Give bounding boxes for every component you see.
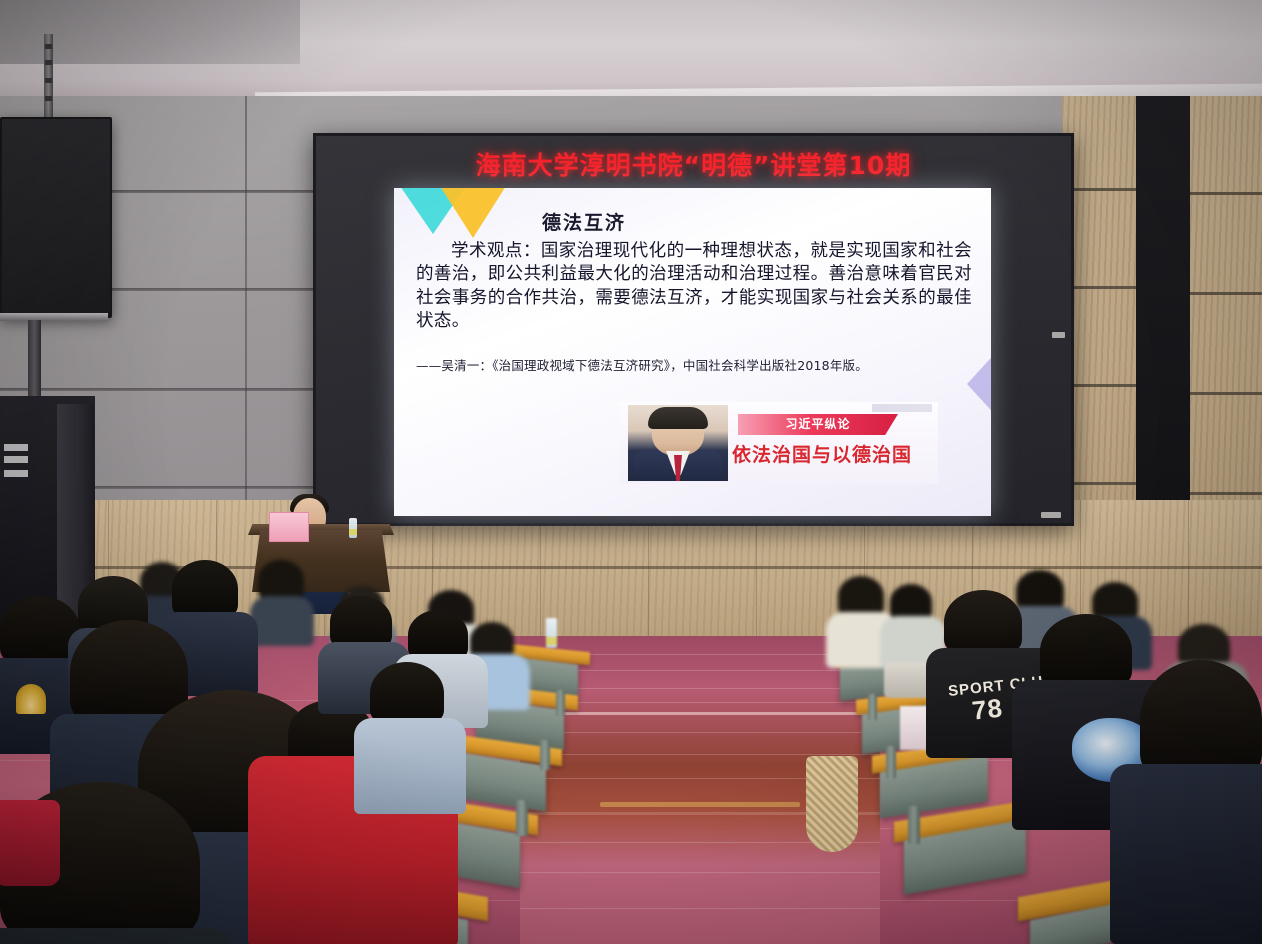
image-watermark	[872, 404, 932, 412]
rack-label	[4, 456, 28, 463]
seat-post	[868, 694, 877, 720]
slide-citation: ——吴清一：《治国理政视域下德法互济研究》，中国社会科学出版社2018年版。	[416, 358, 972, 374]
screen-control-button[interactable]	[1052, 332, 1065, 338]
slide-heading: 德法互济	[542, 208, 626, 235]
triangle-amber-icon	[440, 188, 506, 238]
embedded-image-card: 习近平纵论 依法治国与以德治国	[620, 402, 938, 484]
wall-mounted-tv[interactable]	[0, 117, 112, 318]
shirt-emblem	[16, 684, 46, 714]
tv-mount-bracket	[44, 34, 53, 126]
lecture-hall-photo: 海南大学淳明书院“明德”讲堂第10期 德法互济 学术观点：国家治理现代化的一种理…	[0, 0, 1262, 944]
triangle-purple-icon	[967, 338, 991, 430]
red-bag	[0, 800, 60, 886]
water-bottle	[546, 618, 557, 648]
rack-label	[4, 444, 28, 451]
wall-seam	[245, 96, 247, 516]
seat-post	[886, 746, 896, 778]
seat-post	[516, 800, 528, 836]
doorway-dark	[1136, 96, 1190, 536]
rack-label	[4, 470, 28, 477]
projection-screen[interactable]: 海南大学淳明书院“明德”讲堂第10期 德法互济 学术观点：国家治理现代化的一种理…	[313, 133, 1074, 526]
straw-tote-bag	[806, 756, 858, 852]
seat-post	[908, 806, 920, 844]
tv-base	[0, 313, 108, 321]
water-bottle	[349, 518, 357, 538]
lecture-banner-title: 海南大学淳明书院“明德”讲堂第10期	[316, 146, 1071, 182]
seat-post	[556, 690, 565, 716]
portrait-photo	[628, 405, 728, 481]
embedded-banner-label: 习近平纵论	[738, 414, 898, 435]
portrait-hair	[648, 407, 708, 429]
presentation-slide: 德法互济 学术观点：国家治理现代化的一种理想状态，就是实现国家和社会的善治，即公…	[394, 188, 991, 516]
slide-body-text: 学术观点：国家治理现代化的一种理想状态，就是实现国家和社会的善治，即公共利益最大…	[416, 240, 972, 333]
screen-indicator	[1041, 512, 1061, 518]
embedded-headline: 依法治国与以德治国	[732, 440, 932, 467]
tee-number: 78	[970, 692, 1004, 726]
aisle-step-nosing	[600, 802, 800, 807]
seat-post	[540, 740, 550, 770]
aisle-step-edge	[520, 712, 880, 715]
speaker-nameplate	[269, 512, 309, 542]
